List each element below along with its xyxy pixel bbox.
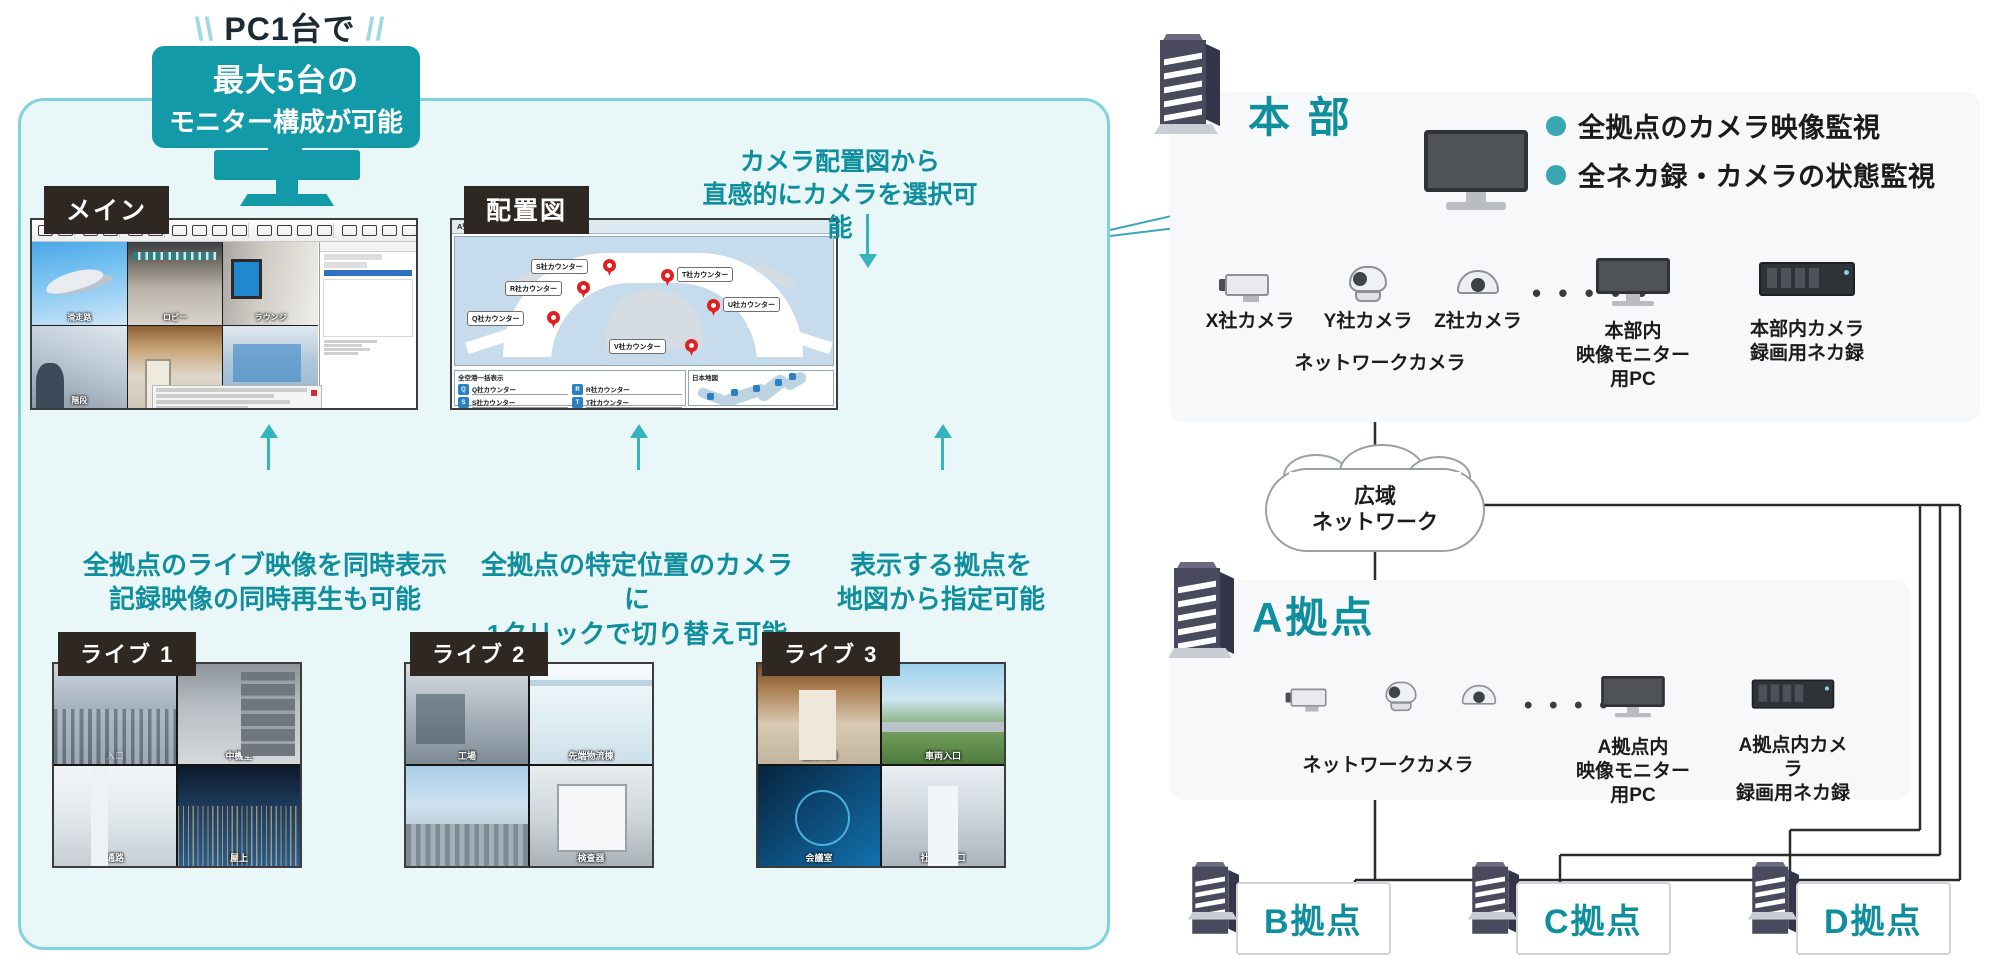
device-label-line2: 録画用ネカ録 (1730, 782, 1856, 806)
window-live1[interactable]: 入口 中機室 通路 屋上 (52, 662, 302, 868)
header-pc1-text: PC1台で (224, 11, 355, 47)
video-caption: 社員玄関 (758, 749, 880, 762)
callout-line2: モニター構成が可能 (152, 102, 420, 139)
window-icon[interactable] (398, 223, 416, 239)
video-cell[interactable]: 階段 (32, 326, 127, 409)
annotation-line1: 表示する拠点を (836, 548, 1046, 582)
bullet-item: 全拠点のカメラ映像監視 (1546, 106, 1986, 145)
video-caption: 入口 (54, 749, 176, 762)
legend-label: Q社カウンター (472, 384, 568, 395)
hq-network-cameras-label: ネットワークカメラ (1250, 352, 1510, 376)
legend-badge: S (458, 397, 469, 408)
legend-badge: Q (458, 384, 469, 395)
video-cell[interactable]: 検査器 (530, 766, 652, 866)
legend-item[interactable]: RR社カウンター (572, 384, 682, 395)
video-cell[interactable]: 屋上 (178, 766, 300, 866)
dome-camera-icon (1454, 680, 1505, 713)
video-caption: 通路 (54, 851, 176, 864)
device-y-camera: Y社カメラ (1322, 264, 1414, 334)
window-label-main: メイン (44, 186, 169, 234)
site-a-building-icon (1166, 562, 1236, 658)
site-d-building-icon (1746, 862, 1791, 920)
map-label-v[interactable]: V社カウンター (609, 339, 666, 354)
map-pin[interactable] (577, 281, 590, 298)
monitor-icon (214, 150, 360, 208)
site-chip-b[interactable]: B拠点 (1236, 882, 1391, 955)
nvr-icon (1752, 676, 1835, 716)
video-caption: 先端物流棟 (530, 749, 652, 762)
device-z-camera: Z社カメラ (1432, 264, 1524, 334)
bullet-item: 全ネカ録・カメラの状態監視 (1546, 155, 1986, 194)
site-chip-d[interactable]: D拠点 (1796, 882, 1951, 955)
japan-map-pin[interactable] (731, 389, 738, 396)
play-icon[interactable] (253, 223, 271, 239)
device-label-line1: A拠点内カメラ (1730, 734, 1856, 782)
video-caption: 屋上 (178, 851, 300, 864)
legend-item[interactable]: QQ社カウンター (458, 384, 568, 395)
arrow-stem (267, 436, 270, 470)
japan-map-pin[interactable] (753, 385, 760, 392)
device-label-line1: A拠点内 (1570, 736, 1696, 760)
annotation-map-select: 表示する拠点を 地図から指定可能 (836, 548, 1046, 617)
nvr-icon (1759, 258, 1855, 304)
window-main[interactable]: 滑走路 ロビー ラウンジ 階段 エレベーター 管制センター (30, 218, 418, 410)
annotation-line2: 直感的にカメラを選択可能 (700, 179, 980, 245)
map-pin[interactable] (603, 259, 616, 276)
video-caption: 階段 (32, 395, 127, 406)
device-site-a-dome-camera (1446, 680, 1512, 720)
record-icon[interactable] (273, 223, 291, 239)
video-cell[interactable]: 先端物流棟 (530, 664, 652, 764)
video-caption: 会議室 (758, 851, 880, 864)
annotation-camera-select: カメラ配置図から 直感的にカメラを選択可能 (700, 146, 980, 245)
layout-icon[interactable] (168, 223, 186, 239)
snapshot-icon[interactable] (293, 223, 311, 239)
video-caption: ロビー (128, 312, 223, 323)
annotation-line1: 全拠点のライブ映像を同時表示 (30, 548, 500, 582)
device-site-a-ptz-camera (1368, 680, 1434, 720)
device-label-line2: 映像モニター用PC (1570, 760, 1696, 808)
layout-legend[interactable]: 全空港一括表示 QQ社カウンター RR社カウンター SS社カウンター TT社カウ… (454, 370, 686, 406)
device-label-line2: 録画用ネカ録 (1744, 342, 1870, 366)
map-label-r[interactable]: R社カウンター (505, 281, 562, 296)
export-icon[interactable] (378, 223, 396, 239)
slash-right-icon: // (356, 11, 396, 47)
arrow-stem (941, 436, 944, 470)
device-label: Z社カメラ (1432, 310, 1524, 334)
site-chip-c[interactable]: C拠点 (1516, 882, 1671, 955)
video-cell[interactable]: 工場 (406, 664, 528, 764)
window-label-layout: 配置図 (464, 186, 589, 234)
video-cell[interactable]: 会議室 (758, 766, 880, 866)
record-indicator (311, 390, 317, 396)
legend-label: S社カウンター (472, 397, 568, 408)
hq-building-icon (1152, 34, 1222, 134)
main-video-grid[interactable]: 滑走路 ロビー ラウンジ 階段 エレベーター 管制センター (32, 242, 318, 408)
window-label-live1: ライブ 1 (58, 632, 196, 676)
device-label: X社カメラ (1204, 310, 1296, 334)
window-layout[interactable]: A空港カメラ配置図 S社カウンター R社カウンター T社カウンター U社カウンタ… (450, 218, 838, 410)
device-site-a-nvr: A拠点内カメラ 録画用ネカ録 (1730, 676, 1856, 805)
video-caption: 工場 (406, 749, 528, 762)
japan-map-title: 日本地図 (689, 371, 833, 383)
map-label-t[interactable]: T社カウンター (677, 267, 733, 282)
video-caption: 車両入口 (882, 749, 1004, 762)
japan-map-pin[interactable] (707, 393, 714, 400)
main-timeline-panel[interactable] (152, 385, 322, 410)
legend-item[interactable]: TT社カウンター (572, 397, 682, 408)
annotation-line2: 記録映像の同時再生も可能 (30, 582, 500, 616)
video-cell[interactable]: 入口 (54, 664, 176, 764)
image-icon[interactable] (358, 223, 376, 239)
legend-badge: T (572, 397, 583, 408)
video-caption: 中機室 (178, 749, 300, 762)
video-caption: 社員通用口 (882, 851, 1004, 864)
window-live2[interactable]: 工場 先端物流棟 構内 検査器 (404, 662, 654, 868)
japan-map[interactable]: 日本地図 (688, 370, 834, 406)
bullet-dot-icon (1546, 165, 1566, 185)
device-label-line1: 本部内 (1570, 320, 1696, 344)
wan-cloud: 広域 ネットワーク (1265, 468, 1485, 552)
japan-map-pin[interactable] (775, 379, 782, 386)
box-camera-icon (1219, 266, 1281, 304)
slash-left-icon: \\ (185, 11, 225, 47)
device-site-a-monitor-pc: A拠点内 映像モニター用PC (1570, 676, 1696, 807)
video-cell[interactable]: 構内 (406, 766, 528, 866)
device-label-line2: 映像モニター用PC (1570, 344, 1696, 392)
legend-label: R社カウンター (586, 384, 682, 395)
group-icon[interactable] (188, 223, 206, 239)
device-label: Y社カメラ (1322, 310, 1414, 334)
annotation-line2: 地図から指定可能 (836, 582, 1046, 616)
device-x-camera: X社カメラ (1204, 266, 1296, 334)
ptz-pad-icon[interactable] (338, 223, 356, 239)
monitor-pc-icon (1596, 258, 1670, 306)
ptz-camera-icon (1337, 264, 1399, 304)
map-pin[interactable] (707, 299, 720, 316)
device-label-line1: 本部内カメラ (1744, 318, 1870, 342)
map-label-s[interactable]: S社カウンター (531, 259, 588, 274)
site-a-title: A拠点 (1252, 584, 1375, 645)
video-caption: 構内 (406, 851, 528, 864)
annotation-live-sync: 全拠点のライブ映像を同時表示 記録映像の同時再生も可能 (30, 548, 500, 617)
legend-title: 全空港一括表示 (455, 371, 685, 383)
video-cell[interactable]: ラウンジ (223, 242, 318, 325)
site-b-building-icon (1186, 862, 1231, 920)
window-label-live3: ライブ 3 (762, 632, 900, 676)
hq-bullets: 全拠点のカメラ映像監視 全ネカ録・カメラの状態監視 (1546, 106, 1986, 204)
bullet-dot-icon (1546, 116, 1566, 136)
box-camera-icon (1286, 682, 1337, 713)
japan-map-pin[interactable] (789, 373, 796, 380)
map-pin[interactable] (685, 339, 698, 356)
video-cell[interactable]: 社員玄関 (758, 664, 880, 764)
bullet-label: 全ネカ録・カメラの状態監視 (1578, 155, 1936, 194)
window-label-live2: ライブ 2 (410, 632, 548, 676)
live1-grid[interactable]: 入口 中機室 通路 屋上 (54, 664, 300, 866)
video-cell[interactable]: 車両入口 (882, 664, 1004, 764)
video-cell[interactable]: ロビー (128, 242, 223, 325)
wan-line2: ネットワーク (1312, 510, 1438, 536)
video-cell[interactable]: 滑走路 (32, 242, 127, 325)
dome-camera-icon (1447, 264, 1509, 304)
video-caption: 滑走路 (32, 312, 127, 323)
monitor-pc-icon (1601, 676, 1665, 717)
site-c-building-icon (1466, 862, 1511, 920)
map-label-u[interactable]: U社カウンター (723, 297, 780, 312)
erase-icon[interactable] (313, 223, 331, 239)
video-cell[interactable]: 社員通用口 (882, 766, 1004, 866)
callout-monitor-config: 最大5台の モニター構成が可能 (152, 46, 420, 148)
video-cell[interactable]: 通路 (54, 766, 176, 866)
map-pin[interactable] (547, 311, 560, 328)
video-caption: ラウンジ (223, 312, 318, 323)
main-side-panel[interactable] (319, 242, 416, 408)
bullet-label: 全拠点のカメラ映像監視 (1578, 106, 1881, 145)
site-a-network-cameras-label: ネットワークカメラ (1248, 754, 1528, 778)
device-site-a-box-camera (1278, 682, 1344, 720)
map-pin[interactable] (661, 269, 674, 286)
live3-grid[interactable]: 社員玄関 車両入口 会議室 社員通用口 (758, 664, 1004, 866)
video-cell[interactable]: 中機室 (178, 664, 300, 764)
legend-badge: R (572, 384, 583, 395)
arrow-down-icon (859, 254, 877, 268)
hq-title: 本 部 (1248, 84, 1353, 145)
device-hq-monitor-pc: 本部内 映像モニター用PC (1570, 258, 1696, 391)
arrow-stem (637, 436, 640, 470)
map-label-q[interactable]: Q社カウンター (467, 311, 524, 326)
annotation-line1: カメラ配置図から (700, 146, 980, 179)
legend-label: T社カウンター (586, 397, 682, 408)
monitor-icon-tb[interactable] (228, 223, 246, 239)
callout-line1: 最大5台の (152, 55, 420, 100)
ptz-camera-icon (1376, 680, 1427, 713)
hq-monitor-icon (1424, 130, 1528, 212)
wan-line1: 広域 (1354, 484, 1396, 510)
video-caption: 検査器 (530, 851, 652, 864)
annotation-line1: 全拠点の特定位置のカメラに (472, 548, 802, 617)
sequence-icon[interactable] (208, 223, 226, 239)
airport-map[interactable]: S社カウンター R社カウンター T社カウンター U社カウンター Q社カウンター … (454, 236, 834, 366)
header-pc1: \\PC1台で// (120, 4, 460, 50)
live2-grid[interactable]: 工場 先端物流棟 構内 検査器 (406, 664, 652, 866)
device-hq-nvr: 本部内カメラ 録画用ネカ録 (1744, 258, 1870, 366)
arrow-stem (866, 214, 869, 256)
legend-item[interactable]: SS社カウンター (458, 397, 568, 408)
window-live3[interactable]: 社員玄関 車両入口 会議室 社員通用口 (756, 662, 1006, 868)
